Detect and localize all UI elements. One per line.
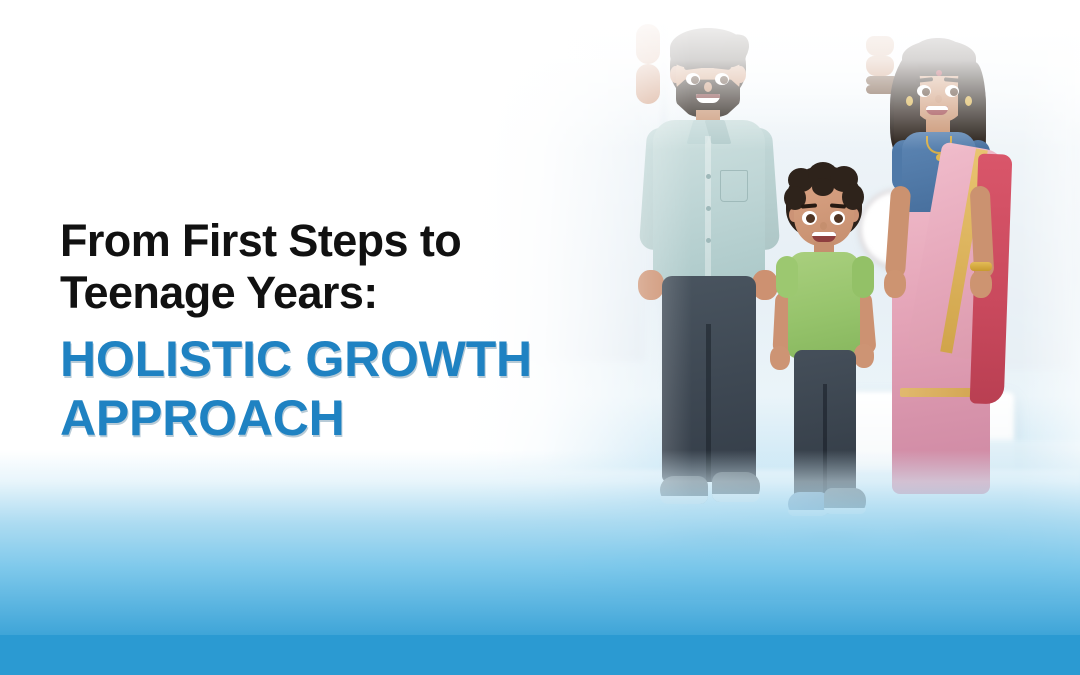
- father-mouth-inner: [696, 94, 720, 98]
- boy-pupil-right: [834, 214, 843, 223]
- boy-pupil-left: [806, 214, 815, 223]
- father-shirt-button-1: [706, 174, 711, 179]
- father-shirt-pocket: [720, 170, 748, 202]
- boy-sleeve-left: [776, 256, 798, 298]
- page-title: From First Steps toTeenage Years:: [60, 215, 600, 319]
- bottom-blue-solid-strip: [0, 635, 1080, 675]
- person-father: [636, 24, 786, 544]
- boy-hair-curl-6: [812, 178, 834, 196]
- mother-nose: [935, 95, 942, 103]
- headline-line-1: From First Steps to: [60, 215, 461, 266]
- father-forearm-left: [636, 24, 660, 64]
- father-forearm-right: [636, 64, 660, 104]
- accent-line-2: APPROACH: [60, 390, 345, 446]
- boy-tshirt: [788, 252, 860, 358]
- mother-hand-right: [970, 270, 992, 298]
- father-jeans-seam: [706, 324, 711, 482]
- boy-jeans-seam: [823, 384, 827, 498]
- mother-foot-right: [866, 56, 894, 76]
- mother-pupil-left: [922, 88, 930, 96]
- accent-line-1: HOLISTIC GROWTH: [60, 331, 532, 387]
- boy-shoe-sole-right: [824, 508, 866, 514]
- boy-shoe-sole-left: [788, 510, 828, 516]
- father-shirt-button-2: [706, 206, 711, 211]
- father-nose: [704, 82, 712, 92]
- boy-hand-left: [770, 346, 790, 370]
- accent-headline: HOLISTIC GROWTHAPPROACH: [60, 330, 600, 448]
- mother-hand-left: [884, 270, 906, 298]
- boy-nose: [820, 222, 827, 230]
- mother-earring-left-icon: [906, 96, 913, 106]
- mother-earring-right-icon: [965, 96, 972, 106]
- headline-line-2: Teenage Years:: [60, 267, 378, 318]
- person-mother: [866, 36, 1016, 542]
- father-shoe-sole-left: [660, 496, 708, 504]
- father-pupil-left: [691, 76, 699, 84]
- mother-bangle-icon: [970, 262, 992, 271]
- promo-banner: From First Steps toTeenage Years: HOLIST…: [0, 0, 1080, 675]
- father-shirt-placket: [705, 136, 711, 286]
- mother-foot-left: [866, 36, 894, 56]
- father-pupil-right: [720, 76, 728, 84]
- boy-teeth: [812, 232, 836, 236]
- mother-teeth: [926, 106, 948, 110]
- father-shirt-button-3: [706, 238, 711, 243]
- father-shoe-sole-right: [712, 494, 760, 502]
- headline-block: From First Steps toTeenage Years: HOLIST…: [60, 215, 600, 448]
- father-hand-left: [638, 270, 664, 300]
- mother-bindi-icon: [936, 70, 942, 76]
- mother-pupil-right: [950, 88, 958, 96]
